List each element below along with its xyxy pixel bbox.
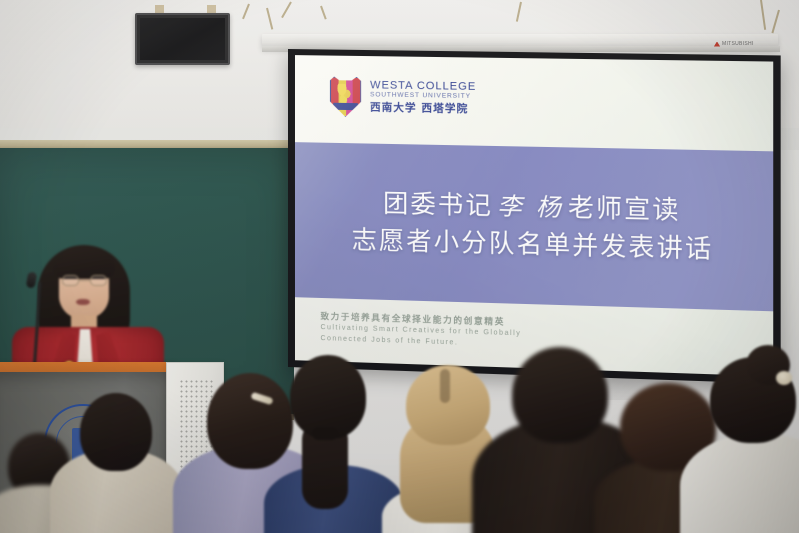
projector-brand: MITSUBISHI	[714, 41, 754, 47]
headline-suffix: 老师宣读	[568, 192, 681, 224]
slide-body-band: 团委书记李 杨老师宣读 志愿者小分队名单并发表讲话	[295, 142, 773, 312]
audience-head	[512, 347, 608, 443]
projector-brand-label: MITSUBISHI	[722, 41, 754, 47]
list-item	[690, 357, 799, 533]
headline-person-name: 李 杨	[493, 192, 568, 222]
hair-ornament-icon	[776, 371, 792, 385]
projection-screen-surface: WESTA COLLEGE SOUTHWEST UNIVERSITY 西南大学 …	[295, 55, 773, 376]
logo-chinese: 西南大学 西塔学院	[370, 102, 476, 117]
audience-body	[680, 433, 799, 533]
monitor-bracket-left	[155, 5, 164, 13]
glasses-bridge	[79, 280, 90, 281]
slide-headline: 团委书记李 杨老师宣读 志愿者小分队名单并发表讲话	[295, 182, 773, 270]
slide-tagline: 致力于培养具有全球择业能力的创意精英 Cultivating Smart Cre…	[321, 311, 522, 352]
glasses-lens-left	[62, 275, 79, 286]
college-logo: WESTA COLLEGE SOUTHWEST UNIVERSITY 西南大学 …	[330, 76, 476, 119]
audience-head	[80, 393, 152, 471]
presenter-mouth	[76, 299, 90, 305]
college-crest-icon	[330, 76, 361, 117]
lecture-hall-photo: MITSUBISHI WESTA COLLEGE SOUTHWEST UNIVE…	[0, 0, 799, 533]
glasses-icon	[62, 275, 107, 286]
crest-ribbon	[333, 103, 359, 110]
audience-hair-part	[440, 369, 450, 403]
headline-prefix: 团委书记	[383, 188, 493, 220]
slide-header-band: WESTA COLLEGE SOUTHWEST UNIVERSITY 西南大学 …	[295, 55, 773, 151]
projection-screen-frame: WESTA COLLEGE SOUTHWEST UNIVERSITY 西南大学 …	[288, 49, 781, 384]
mitsubishi-triangle-icon	[714, 42, 720, 47]
presentation-slide: WESTA COLLEGE SOUTHWEST UNIVERSITY 西南大学 …	[295, 55, 773, 376]
glasses-lens-right	[90, 275, 107, 286]
list-item	[56, 393, 176, 533]
monitor-bracket-right	[207, 5, 216, 13]
hair-tie-icon	[312, 427, 338, 440]
logo-wordmark: WESTA COLLEGE SOUTHWEST UNIVERSITY 西南大学 …	[370, 80, 476, 116]
list-item	[268, 355, 390, 533]
wall-mounted-display	[135, 13, 230, 65]
logo-english-secondary: SOUTHWEST UNIVERSITY	[370, 93, 476, 102]
